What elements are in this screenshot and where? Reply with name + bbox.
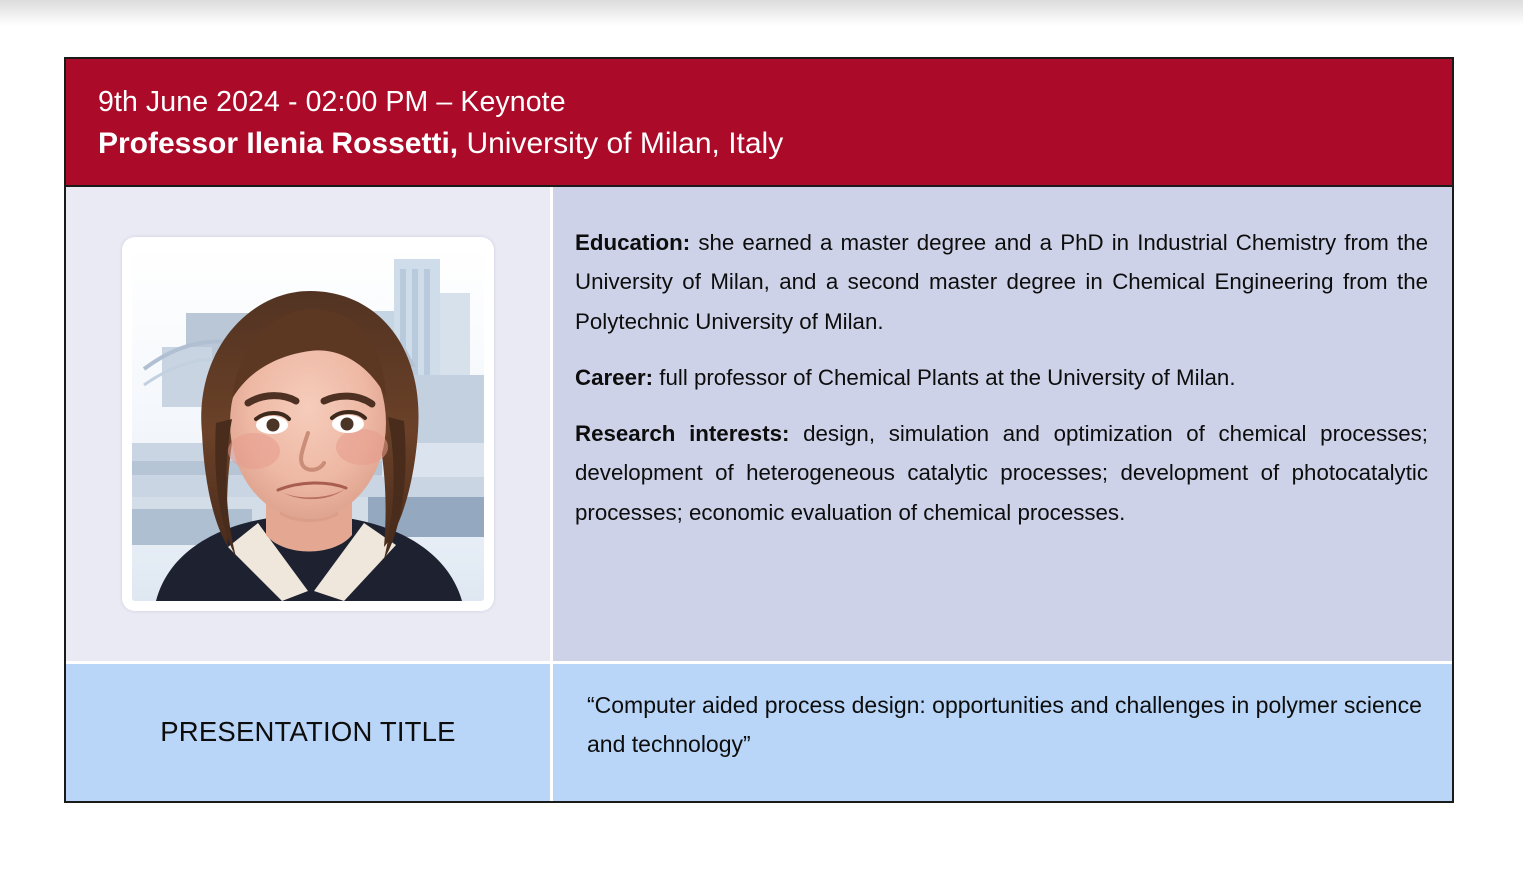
speaker-heading: Professor Ilenia Rossetti, University of… [98, 124, 1452, 163]
bio-label-education: Education: [575, 230, 690, 255]
bio-text-education: she earned a master degree and a PhD in … [575, 230, 1428, 334]
speaker-affiliation: University of Milan, Italy [458, 127, 783, 160]
table-row-biography: Education: she earned a master degree an… [66, 187, 1452, 661]
presentation-title-value-cell: “Computer aided process design: opportun… [553, 664, 1452, 801]
speaker-name: Professor Ilenia Rossetti, [98, 127, 458, 160]
photo-cell [66, 187, 550, 661]
bio-paragraph-research-interests: Research interests: design, simulation a… [575, 414, 1428, 533]
presentation-title-label-cell: PRESENTATION TITLE [66, 664, 550, 801]
top-gradient-band [0, 0, 1523, 26]
speaker-portrait-photo [132, 247, 484, 601]
card-body-table: Education: she earned a master degree an… [64, 187, 1454, 803]
presentation-title-value: “Computer aided process design: opportun… [587, 686, 1432, 765]
session-datetime: 9th June 2024 - 02:00 PM – Keynote [98, 85, 1452, 120]
biography-cell: Education: she earned a master degree an… [553, 187, 1452, 661]
card-header: 9th June 2024 - 02:00 PM – Keynote Profe… [64, 57, 1454, 187]
keynote-speaker-card: 9th June 2024 - 02:00 PM – Keynote Profe… [64, 57, 1454, 803]
table-row-presentation-title: PRESENTATION TITLE “Computer aided proce… [66, 661, 1452, 801]
bio-label-research-interests: Research interests: [575, 421, 789, 446]
bio-text-career: full professor of Chemical Plants at the… [653, 365, 1235, 390]
bio-paragraph-career: Career: full professor of Chemical Plant… [575, 358, 1428, 398]
bio-paragraph-education: Education: she earned a master degree an… [575, 223, 1428, 342]
bio-label-career: Career: [575, 365, 653, 390]
photo-frame [122, 237, 494, 611]
presentation-title-label: PRESENTATION TITLE [160, 716, 455, 748]
